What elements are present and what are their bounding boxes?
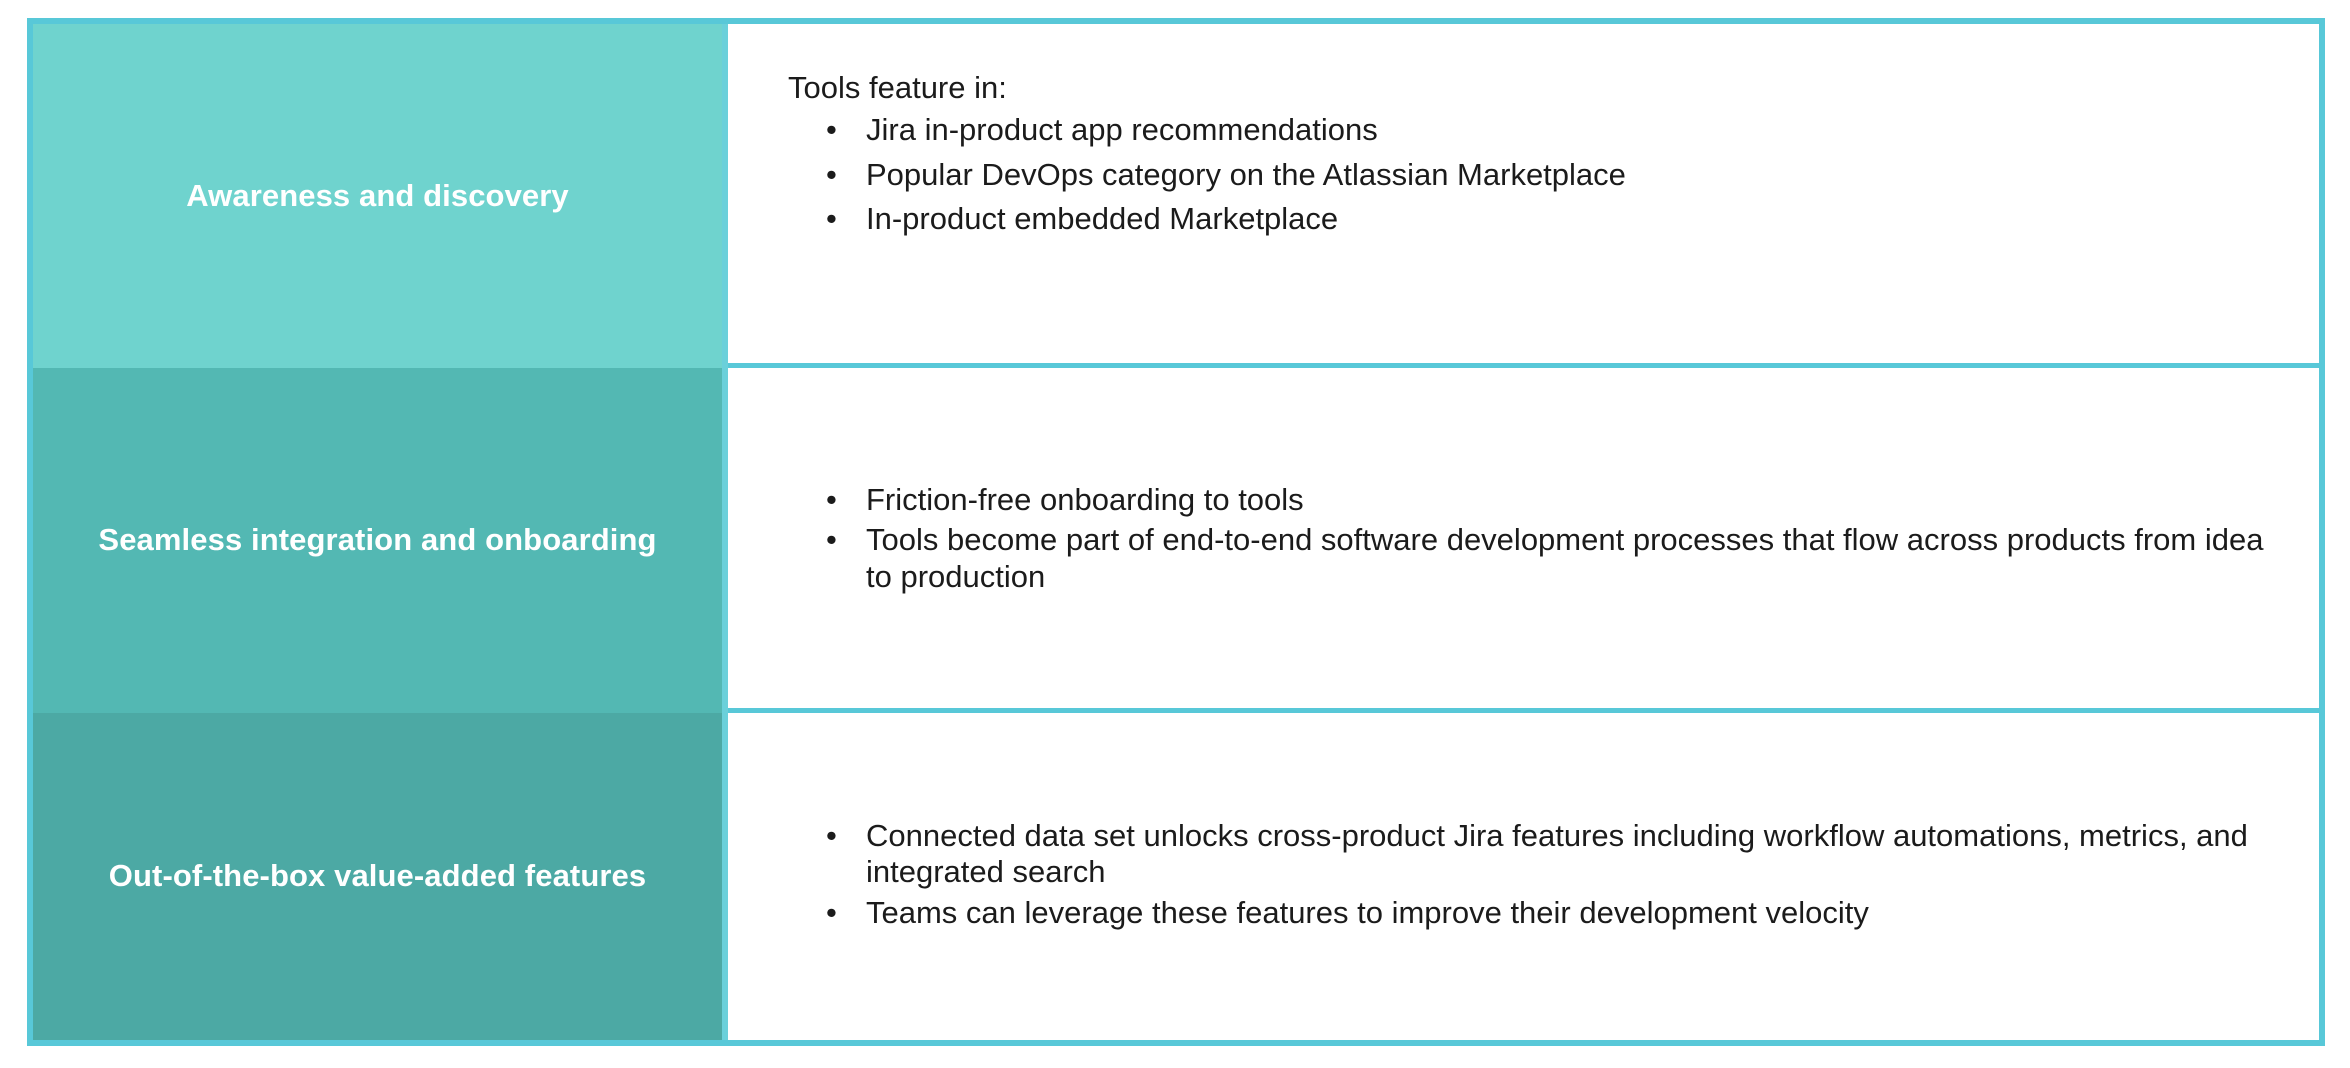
list-item-label: Friction-free onboarding to tools <box>866 482 1304 517</box>
list-item: • Teams can leverage these features to i… <box>788 895 2289 931</box>
list-item: • Tools become part of end-to-end softwa… <box>788 522 2289 595</box>
bullet-dot-icon: • <box>826 522 837 558</box>
list-item-label: Connected data set unlocks cross-product… <box>866 818 2248 889</box>
row-label-cell-seamless-integration: Seamless integration and onboarding <box>33 368 728 713</box>
table-row: Awareness and discovery Tools feature in… <box>33 24 2319 368</box>
bullet-list: • Jira in-product app recommendations • … <box>788 112 2289 237</box>
table-row: Out-of-the-box value-added features • Co… <box>33 713 2319 1040</box>
list-item-label: Jira in-product app recommendations <box>866 112 1378 147</box>
list-item: • Connected data set unlocks cross-produ… <box>788 818 2289 891</box>
bullet-dot-icon: • <box>826 112 837 148</box>
bullet-list: • Connected data set unlocks cross-produ… <box>788 818 2289 935</box>
table-row: Seamless integration and onboarding • Fr… <box>33 368 2319 713</box>
list-item-label: Teams can leverage these features to imp… <box>866 895 1869 930</box>
bullet-dot-icon: • <box>826 482 837 518</box>
list-item-label: Popular DevOps category on the Atlassian… <box>866 157 1626 192</box>
row-label-cell-awareness: Awareness and discovery <box>33 24 728 368</box>
row-content-cell-seamless-integration: • Friction-free onboarding to tools • To… <box>728 368 2319 713</box>
comparison-table: Awareness and discovery Tools feature in… <box>27 18 2325 1046</box>
bullet-dot-icon: • <box>826 201 837 237</box>
bullet-dot-icon: • <box>826 157 837 193</box>
list-item-label: In-product embedded Marketplace <box>866 201 1338 236</box>
list-item: • Jira in-product app recommendations <box>788 112 2289 148</box>
list-item: • Popular DevOps category on the Atlassi… <box>788 157 2289 193</box>
row-label-text: Awareness and discovery <box>186 175 569 217</box>
row-content-cell-awareness: Tools feature in: • Jira in-product app … <box>728 24 2319 368</box>
row-label-text: Seamless integration and onboarding <box>98 519 656 561</box>
row-label-cell-value-added-features: Out-of-the-box value-added features <box>33 713 728 1040</box>
list-item: • In-product embedded Marketplace <box>788 201 2289 237</box>
content-intro-text: Tools feature in: <box>788 70 2289 106</box>
bullet-dot-icon: • <box>826 895 837 931</box>
list-item: • Friction-free onboarding to tools <box>788 482 2289 518</box>
bullet-list: • Friction-free onboarding to tools • To… <box>788 482 2289 599</box>
bullet-dot-icon: • <box>826 818 837 854</box>
list-item-label: Tools become part of end-to-end software… <box>866 522 2263 593</box>
row-content-cell-value-added-features: • Connected data set unlocks cross-produ… <box>728 713 2319 1040</box>
row-label-text: Out-of-the-box value-added features <box>109 855 646 897</box>
